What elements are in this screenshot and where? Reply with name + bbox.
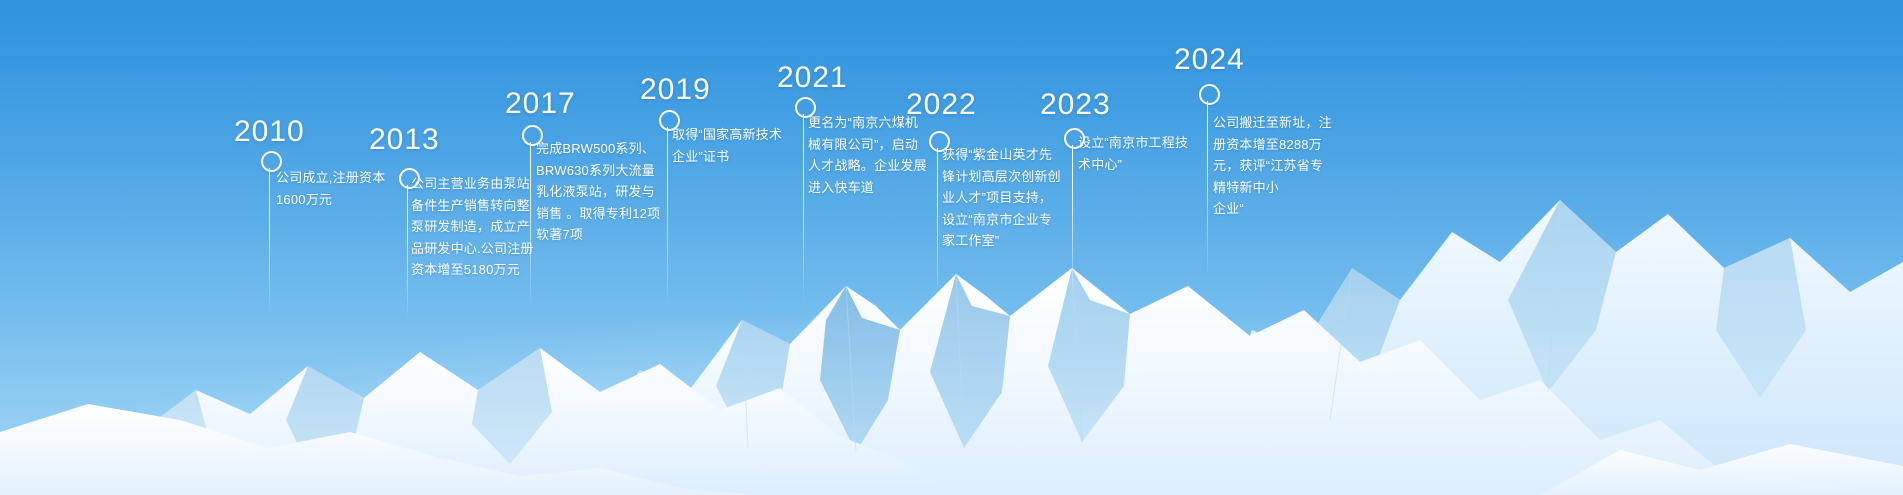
timeline-stem-2010 — [269, 168, 270, 313]
timeline-stem-2021 — [803, 114, 804, 304]
timeline-stem-2017 — [530, 142, 531, 307]
timeline-description-2019: 取得“国家高新技术企业”证书 — [672, 124, 812, 167]
timeline-description-2023: 设立“南京市工程技术中心” — [1078, 132, 1218, 175]
year-label-2013: 2013 — [369, 125, 440, 155]
timeline-stem-2024 — [1207, 101, 1208, 276]
year-label-2022: 2022 — [906, 90, 977, 120]
year-label-2019: 2019 — [640, 75, 711, 105]
timeline-stem-2019 — [667, 127, 668, 307]
timeline-stem-2022 — [937, 148, 938, 298]
timeline-stem-2023 — [1072, 145, 1073, 297]
year-label-2023: 2023 — [1040, 90, 1111, 120]
timeline-dot-2024[interactable] — [1199, 84, 1220, 105]
timeline-description-2021: 更名为“南京六煤机械有限公司”，启动人才战略。企业发展进入快车道 — [808, 112, 950, 198]
timeline-description-2010: 公司成立,注册资本1600万元 — [276, 167, 411, 210]
timeline-description-2022: 获得“紫金山英才先锋计划高层次创新创业人才”项目支持，设立“南京市企业专家工作室… — [942, 144, 1084, 252]
timeline-description-2024: 公司搬迁至新址，注册资本增至8288万元，获评“江苏省专精特新中小企业” — [1213, 112, 1353, 220]
year-label-2021: 2021 — [777, 63, 848, 93]
year-label-2017: 2017 — [505, 89, 576, 119]
year-label-2010: 2010 — [234, 117, 305, 147]
timeline: 2010 公司成立,注册资本1600万元 2013 公司主营业务由泵站备件生产销… — [0, 0, 1903, 495]
timeline-description-2013: 公司主营业务由泵站备件生产销售转向整泵研发制造，成立产品研发中心.公司注册资本增… — [411, 173, 549, 281]
timeline-stem-2013 — [407, 185, 408, 320]
year-label-2024: 2024 — [1174, 45, 1245, 75]
timeline-description-2017: 完成BRW500系列、BRW630系列大流量乳化液泵站，研发与销售 。取得专利1… — [536, 138, 676, 246]
timeline-infographic: 2010 公司成立,注册资本1600万元 2013 公司主营业务由泵站备件生产销… — [0, 0, 1903, 495]
